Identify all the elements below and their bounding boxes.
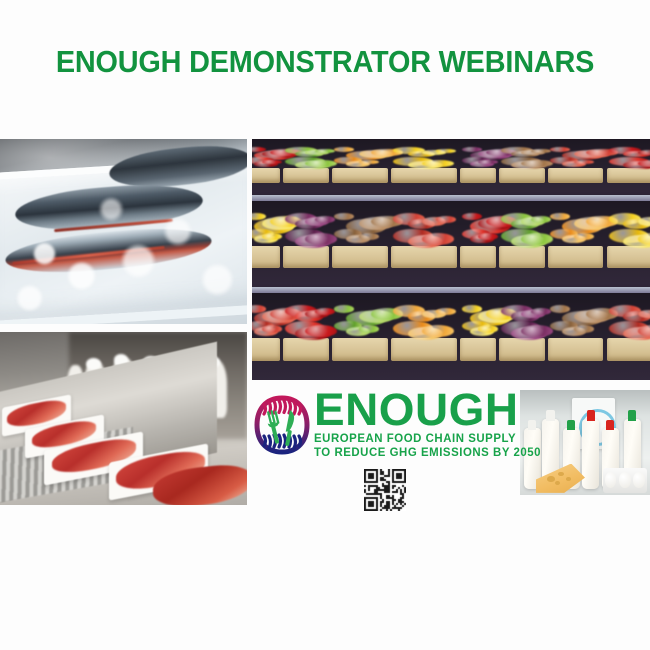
produce-item [550, 147, 570, 152]
produce-item [359, 325, 379, 332]
produce-basket [391, 338, 457, 361]
produce-basket [391, 246, 457, 268]
produce-item [305, 160, 337, 168]
produce-basket [548, 168, 604, 183]
produce-basket [283, 246, 329, 268]
egg [619, 472, 630, 488]
egg-tray [603, 468, 647, 493]
image-supermarket-produce-display [252, 139, 650, 380]
bottle-cap [628, 410, 636, 421]
produce-item [305, 233, 337, 245]
produce-basket [607, 168, 650, 183]
crushed-ice [0, 139, 247, 324]
produce-basket [460, 338, 496, 361]
milk-bottle [582, 419, 599, 488]
cheese-hole [566, 477, 570, 481]
enough-logo: ENOUGH EUROPEAN FOOD CHAIN SUPPLY TO RED… [254, 392, 512, 464]
produce-item [422, 325, 454, 337]
produce-item [478, 325, 498, 332]
produce-item [478, 233, 498, 240]
produce-basket [607, 338, 650, 361]
produce-item [334, 147, 354, 152]
produce-item [550, 213, 570, 220]
produce-item [531, 149, 551, 154]
produce-basket [607, 246, 650, 268]
produce-item [521, 325, 553, 337]
cheese-hole [555, 481, 560, 485]
cheese-hole [558, 472, 564, 477]
bottle-cap [567, 420, 575, 430]
produce-basket [391, 168, 457, 183]
bottle-cap [587, 410, 595, 421]
produce-basket [252, 246, 280, 268]
produce-shelf [252, 293, 650, 380]
produce-basket [548, 246, 604, 268]
produce-item [531, 216, 551, 223]
produce-item [334, 305, 354, 312]
produce-item [359, 233, 379, 240]
produce-shelf [252, 139, 650, 195]
enough-logo-text: ENOUGH EUROPEAN FOOD CHAIN SUPPLY TO RED… [314, 388, 514, 459]
fork-and-knife-in-wavy-ring-icon [254, 394, 310, 456]
produce-shelf [252, 201, 650, 287]
qr-code-canvas [364, 469, 406, 511]
image-meat-processing-line [0, 332, 247, 505]
produce-item [315, 149, 335, 154]
egg [633, 472, 644, 488]
page-title: ENOUGH DEMONSTRATOR WEBINARS [23, 44, 628, 80]
produce-item [574, 233, 594, 240]
bottle-cap [546, 410, 554, 421]
egg [605, 472, 616, 488]
produce-basket [460, 168, 496, 183]
produce-item [262, 233, 282, 240]
produce-basket [499, 338, 545, 361]
produce-item [436, 216, 456, 223]
produce-item [436, 149, 456, 154]
produce-item [422, 160, 454, 168]
produce-basket [332, 246, 388, 268]
produce-item [305, 325, 337, 337]
enough-wordmark: ENOUGH [314, 388, 518, 432]
produce-item [315, 216, 335, 223]
image-fish-on-ice [0, 139, 247, 324]
produce-basket [252, 168, 280, 183]
produce-item [334, 213, 354, 220]
bottle-cap [528, 420, 536, 430]
produce-basket [252, 338, 280, 361]
produce-basket [499, 168, 545, 183]
produce-item [531, 308, 551, 315]
image-fridge-dairy-shelf [520, 390, 650, 495]
produce-basket [283, 338, 329, 361]
slide-canvas: ENOUGH DEMONSTRATOR WEBINARS [0, 0, 650, 650]
cheese-hole [547, 476, 554, 482]
qr-code[interactable] [364, 469, 406, 511]
produce-item [262, 325, 282, 332]
produce-item [550, 305, 570, 312]
produce-item [436, 308, 456, 315]
enough-tagline-line-2: TO REDUCE GHG EMISSIONS BY 2050 [314, 446, 511, 460]
produce-basket [332, 338, 388, 361]
bottle-cap [606, 420, 614, 430]
produce-item [422, 233, 454, 245]
produce-item [521, 233, 553, 245]
produce-basket [460, 246, 496, 268]
produce-item [574, 325, 594, 332]
produce-basket [499, 246, 545, 268]
produce-basket [332, 168, 388, 183]
produce-basket [283, 168, 329, 183]
enough-tagline-line-1: EUROPEAN FOOD CHAIN SUPPLY [314, 432, 511, 446]
produce-item [521, 160, 553, 168]
produce-basket [548, 338, 604, 361]
produce-item [315, 308, 335, 315]
